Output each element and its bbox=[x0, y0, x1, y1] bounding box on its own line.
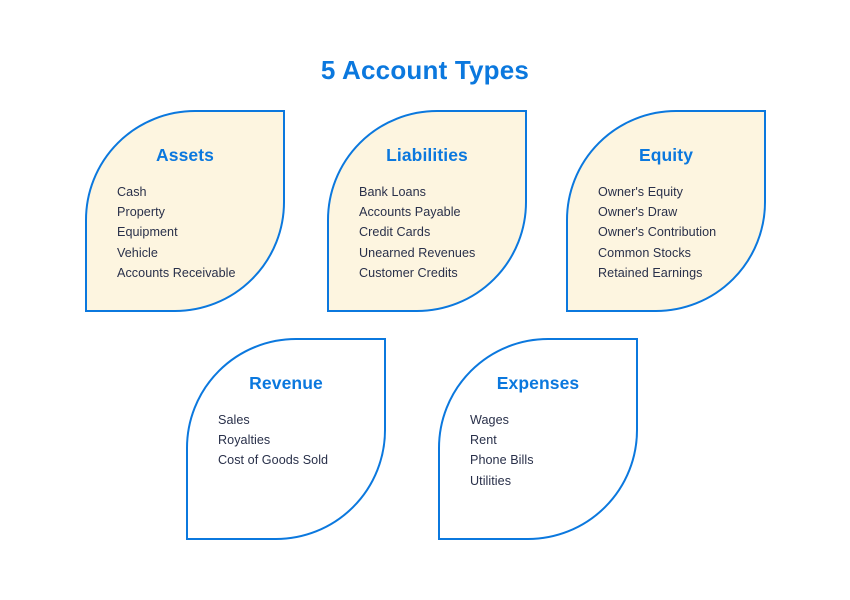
card-title-expenses: Expenses bbox=[440, 373, 636, 394]
card-assets: Assets Cash Property Equipment Vehicle A… bbox=[85, 110, 285, 312]
list-item: Cost of Goods Sold bbox=[218, 450, 328, 470]
list-item: Royalties bbox=[218, 430, 328, 450]
list-item: Customer Credits bbox=[359, 263, 475, 283]
card-title-liabilities: Liabilities bbox=[329, 145, 525, 166]
card-title-assets: Assets bbox=[87, 145, 283, 166]
list-item: Owner's Contribution bbox=[598, 222, 716, 242]
list-item: Bank Loans bbox=[359, 182, 475, 202]
list-item: Equipment bbox=[117, 222, 236, 242]
list-item: Wages bbox=[470, 410, 534, 430]
list-item: Phone Bills bbox=[470, 450, 534, 470]
card-liabilities: Liabilities Bank Loans Accounts Payable … bbox=[327, 110, 527, 312]
list-item: Retained Earnings bbox=[598, 263, 716, 283]
list-item: Owner's Equity bbox=[598, 182, 716, 202]
list-item: Owner's Draw bbox=[598, 202, 716, 222]
card-list-liabilities: Bank Loans Accounts Payable Credit Cards… bbox=[359, 182, 475, 283]
card-title-revenue: Revenue bbox=[188, 373, 384, 394]
card-expenses: Expenses Wages Rent Phone Bills Utilitie… bbox=[438, 338, 638, 540]
list-item: Utilities bbox=[470, 471, 534, 491]
list-item: Unearned Revenues bbox=[359, 243, 475, 263]
list-item: Accounts Receivable bbox=[117, 263, 236, 283]
list-item: Vehicle bbox=[117, 243, 236, 263]
card-equity: Equity Owner's Equity Owner's Draw Owner… bbox=[566, 110, 766, 312]
list-item: Accounts Payable bbox=[359, 202, 475, 222]
card-list-equity: Owner's Equity Owner's Draw Owner's Cont… bbox=[598, 182, 716, 283]
list-item: Common Stocks bbox=[598, 243, 716, 263]
list-item: Credit Cards bbox=[359, 222, 475, 242]
card-list-revenue: Sales Royalties Cost of Goods Sold bbox=[218, 410, 328, 471]
card-title-equity: Equity bbox=[568, 145, 764, 166]
list-item: Property bbox=[117, 202, 236, 222]
card-revenue: Revenue Sales Royalties Cost of Goods So… bbox=[186, 338, 386, 540]
card-list-assets: Cash Property Equipment Vehicle Accounts… bbox=[117, 182, 236, 283]
list-item: Cash bbox=[117, 182, 236, 202]
list-item: Sales bbox=[218, 410, 328, 430]
page-title: 5 Account Types bbox=[0, 55, 850, 86]
list-item: Rent bbox=[470, 430, 534, 450]
card-list-expenses: Wages Rent Phone Bills Utilities bbox=[470, 410, 534, 491]
